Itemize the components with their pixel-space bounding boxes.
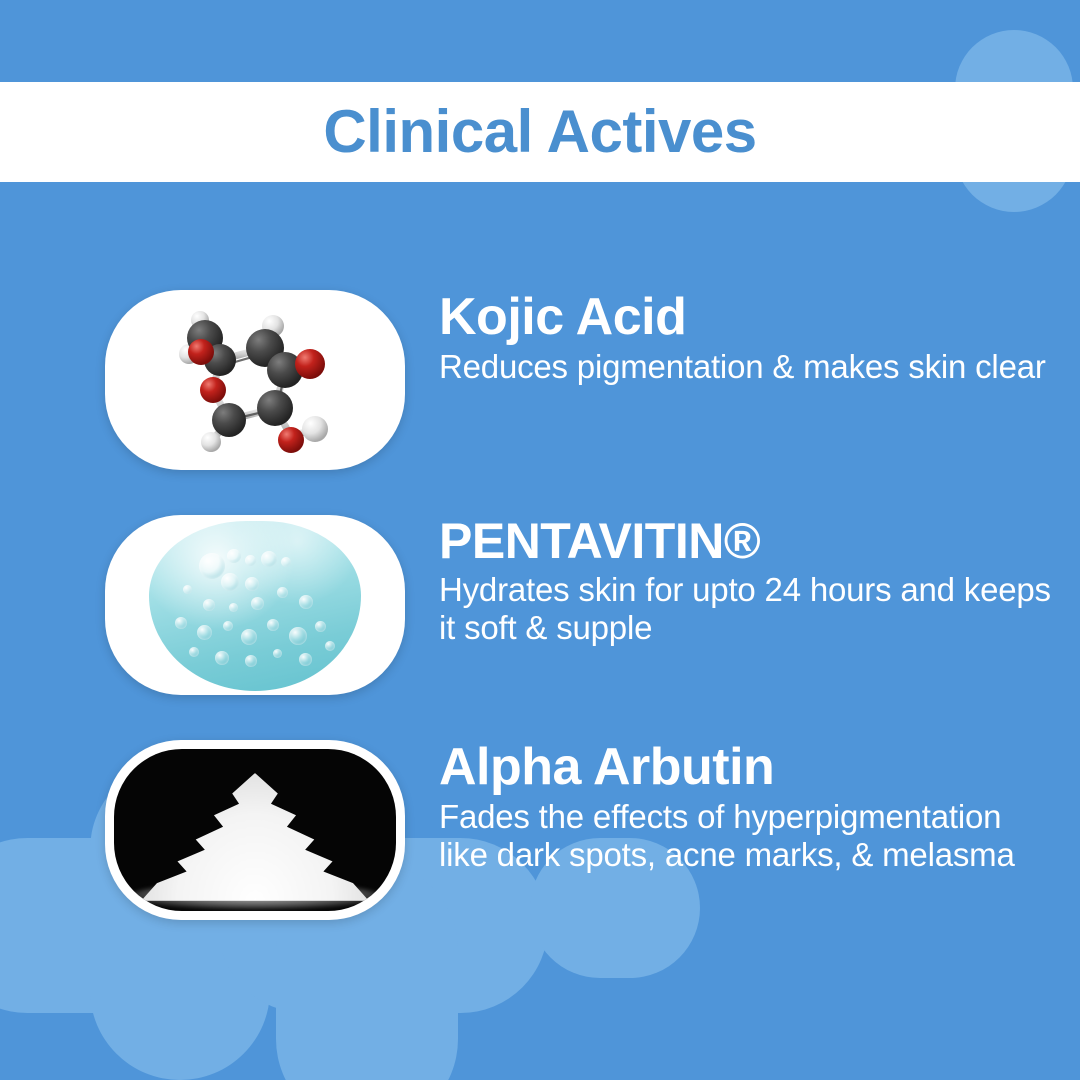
ingredient-name: Alpha Arbutin	[439, 740, 1052, 794]
ingredient-thumbnail-wrap	[105, 290, 405, 470]
ingredient-description: Hydrates skin for upto 24 hours and keep…	[439, 571, 1052, 646]
molecule-ball-and-stick-image	[105, 290, 405, 470]
page-title: Clinical Actives	[323, 102, 756, 162]
ingredient-list: Kojic Acid Reduces pigmentation & makes …	[0, 182, 1080, 1080]
ingredient-thumbnail-wrap	[105, 515, 405, 695]
ingredient-text-column: PENTAVITIN® Hydrates skin for upto 24 ho…	[405, 515, 1080, 646]
title-banner: Clinical Actives	[0, 82, 1080, 182]
blue-gel-droplet-image	[105, 515, 405, 695]
ingredient-text-column: Kojic Acid Reduces pigmentation & makes …	[405, 290, 1080, 386]
powder-photo-inner	[114, 749, 396, 911]
ingredient-text-column: Alpha Arbutin Fades the effects of hyper…	[405, 740, 1080, 873]
molecule-icon	[105, 290, 405, 470]
ingredient-description: Fades the effects of hyperpigmentation l…	[439, 798, 1052, 873]
white-powder-pile-image	[105, 740, 405, 920]
powder-pile-shape	[141, 773, 369, 901]
gel-blob-shape	[149, 521, 361, 691]
ingredient-row-alpha-arbutin: Alpha Arbutin Fades the effects of hyper…	[0, 740, 1080, 920]
ingredient-name: PENTAVITIN®	[439, 515, 1052, 567]
ingredient-description: Reduces pigmentation & makes skin clear	[439, 348, 1052, 386]
ingredient-name: Kojic Acid	[439, 290, 1052, 344]
ingredient-row-pentavitin: PENTAVITIN® Hydrates skin for upto 24 ho…	[0, 515, 1080, 695]
ingredient-row-kojic-acid: Kojic Acid Reduces pigmentation & makes …	[0, 290, 1080, 470]
ingredient-thumbnail-wrap	[105, 740, 405, 920]
